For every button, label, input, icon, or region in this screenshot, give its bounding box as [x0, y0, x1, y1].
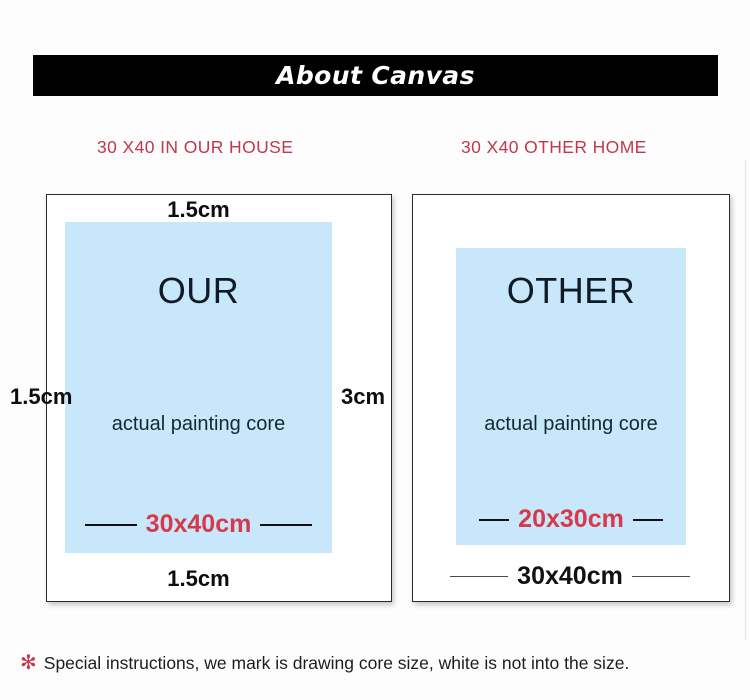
rule-right-our: [260, 524, 312, 526]
rule-left-our: [85, 524, 137, 526]
panel-heading-other: 30 X40 OTHER HOME: [461, 137, 647, 158]
margin-right-our: 3cm: [341, 384, 385, 410]
edge-artifact: [745, 160, 746, 640]
outer-rule-left-other: [450, 576, 508, 577]
outer-size-value-other: 30x40cm: [517, 562, 623, 591]
footer-note: ✻ Special instructions, we mark is drawi…: [20, 653, 629, 674]
core-word-other: OTHER: [456, 270, 686, 312]
margin-left-our: 1.5cm: [10, 384, 72, 410]
about-canvas-banner: About Canvas: [33, 55, 718, 96]
core-size-value-other: 20x30cm: [518, 505, 624, 534]
panel-heading-our: 30 X40 IN OUR HOUSE: [97, 137, 293, 158]
footer-note-text: Special instructions, we mark is drawing…: [44, 653, 630, 674]
asterisk-icon: ✻: [20, 653, 37, 673]
core-word-our: OUR: [65, 270, 332, 312]
core-caption-our: actual painting core: [65, 412, 332, 438]
rule-right-other: [633, 519, 663, 521]
margin-top-our: 1.5cm: [65, 197, 332, 223]
core-size-row-other: 20x30cm: [456, 505, 686, 534]
outer-size-row-other: 30x40cm: [424, 562, 716, 591]
outer-rule-right-other: [632, 576, 690, 577]
rule-left-other: [479, 519, 509, 521]
margin-bottom-our: 1.5cm: [65, 566, 332, 592]
core-size-row-our: 30x40cm: [65, 510, 332, 539]
core-caption-other: actual painting core: [456, 412, 686, 438]
core-size-value-our: 30x40cm: [146, 510, 252, 539]
banner-title: About Canvas: [276, 61, 475, 90]
